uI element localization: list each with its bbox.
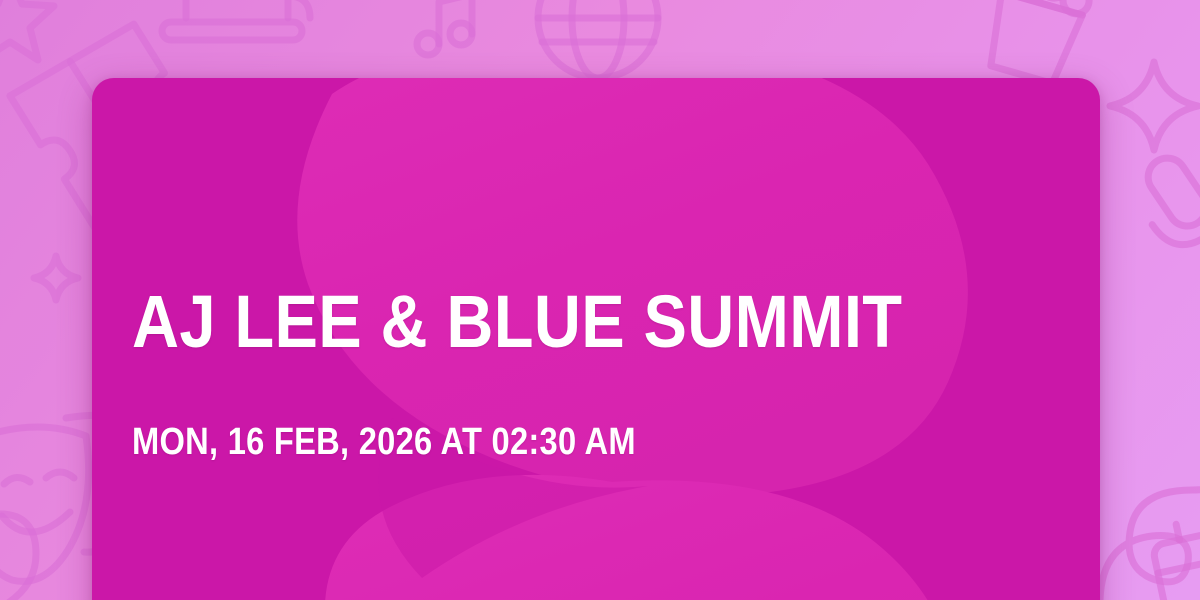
music-note-icon bbox=[417, 0, 472, 55]
confetti-swirl-icon bbox=[1100, 386, 1200, 600]
event-card[interactable]: AJ LEE & BLUE SUMMIT MON, 16 FEB, 2026 A… bbox=[92, 78, 1100, 600]
event-date: MON, 16 FEB, 2026 AT 02:30 AM bbox=[132, 419, 636, 465]
calendar-icon bbox=[1149, 509, 1200, 600]
sparkle-icon bbox=[1110, 62, 1198, 150]
laptop-icon bbox=[162, 0, 310, 40]
event-banner: AJ LEE & BLUE SUMMIT MON, 16 FEB, 2026 A… bbox=[0, 0, 1200, 600]
card-content: AJ LEE & BLUE SUMMIT MON, 16 FEB, 2026 A… bbox=[132, 78, 1032, 600]
microphone-icon bbox=[1124, 140, 1200, 281]
star-icon bbox=[0, 0, 54, 60]
popcorn-icon bbox=[981, 0, 1096, 87]
globe-icon bbox=[538, 0, 658, 78]
event-title: AJ LEE & BLUE SUMMIT bbox=[132, 280, 902, 364]
balloon-icon bbox=[0, 514, 36, 600]
sparkle-small-icon bbox=[34, 256, 78, 300]
